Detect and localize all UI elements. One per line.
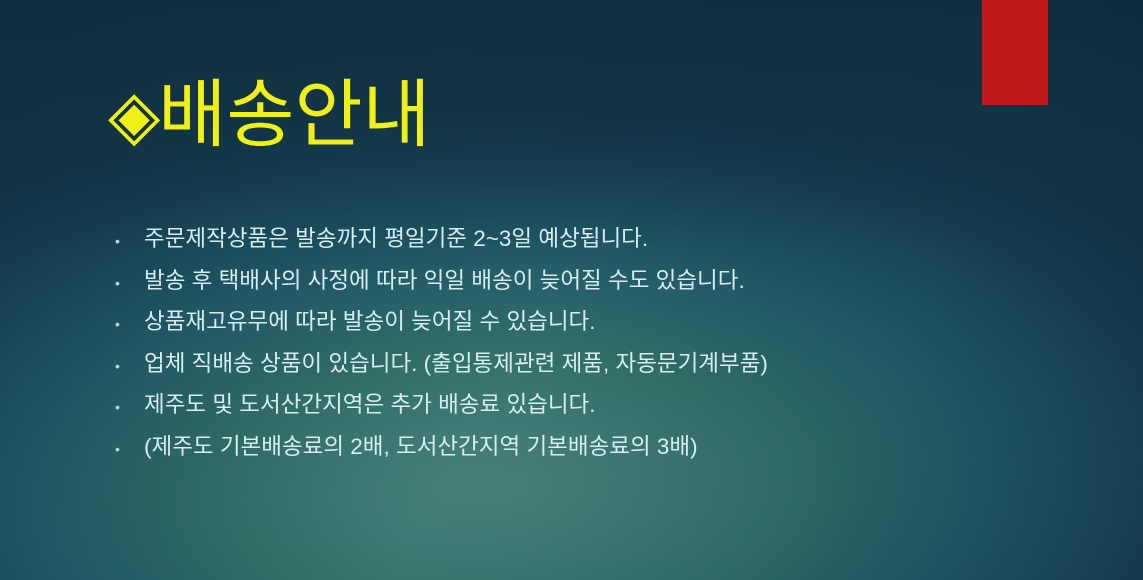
bullet-dot-icon: •	[106, 221, 144, 263]
list-item-text: 발송 후 택배사의 사정에 따라 익일 배송이 늦어질 수도 있습니다.	[144, 260, 745, 302]
bullet-dot-icon: •	[106, 263, 144, 305]
list-item: • 상품재고유무에 따라 발송이 늦어질 수 있습니다.	[106, 301, 1086, 343]
list-item: • 발송 후 택배사의 사정에 따라 익일 배송이 늦어질 수도 있습니다.	[106, 260, 1086, 302]
bullet-dot-icon: •	[106, 429, 144, 471]
list-item-text: (제주도 기본배송료의 2배, 도서산간지역 기본배송료의 3배)	[144, 426, 698, 468]
list-item-text: 주문제작상품은 발송까지 평일기준 2~3일 예상됩니다.	[144, 218, 648, 260]
bullet-dot-icon: •	[106, 387, 144, 429]
slide-title-text: 배송안내	[158, 73, 430, 156]
list-item-text: 상품재고유무에 따라 발송이 늦어질 수 있습니다.	[144, 301, 596, 343]
bullet-dot-icon: •	[106, 304, 144, 346]
list-item: • 업체 직배송 상품이 있습니다. (출입통제관련 제품, 자동문기계부품)	[106, 343, 1086, 385]
list-item-text: 제주도 및 도서산간지역은 추가 배송료 있습니다.	[144, 384, 596, 426]
presentation-slide: ◈배송안내 • 주문제작상품은 발송까지 평일기준 2~3일 예상됩니다. • …	[0, 0, 1143, 580]
red-accent-bar	[982, 0, 1048, 105]
list-item: • (제주도 기본배송료의 2배, 도서산간지역 기본배송료의 3배)	[106, 426, 1086, 468]
bullet-dot-icon: •	[106, 346, 144, 388]
slide-title: ◈배송안내	[108, 76, 431, 154]
list-item-text: 업체 직배송 상품이 있습니다. (출입통제관련 제품, 자동문기계부품)	[144, 343, 768, 385]
list-item: • 제주도 및 도서산간지역은 추가 배송료 있습니다.	[106, 384, 1086, 426]
bullet-list: • 주문제작상품은 발송까지 평일기준 2~3일 예상됩니다. • 발송 후 택…	[106, 218, 1086, 467]
diamond-icon: ◈	[108, 77, 158, 153]
list-item: • 주문제작상품은 발송까지 평일기준 2~3일 예상됩니다.	[106, 218, 1086, 260]
